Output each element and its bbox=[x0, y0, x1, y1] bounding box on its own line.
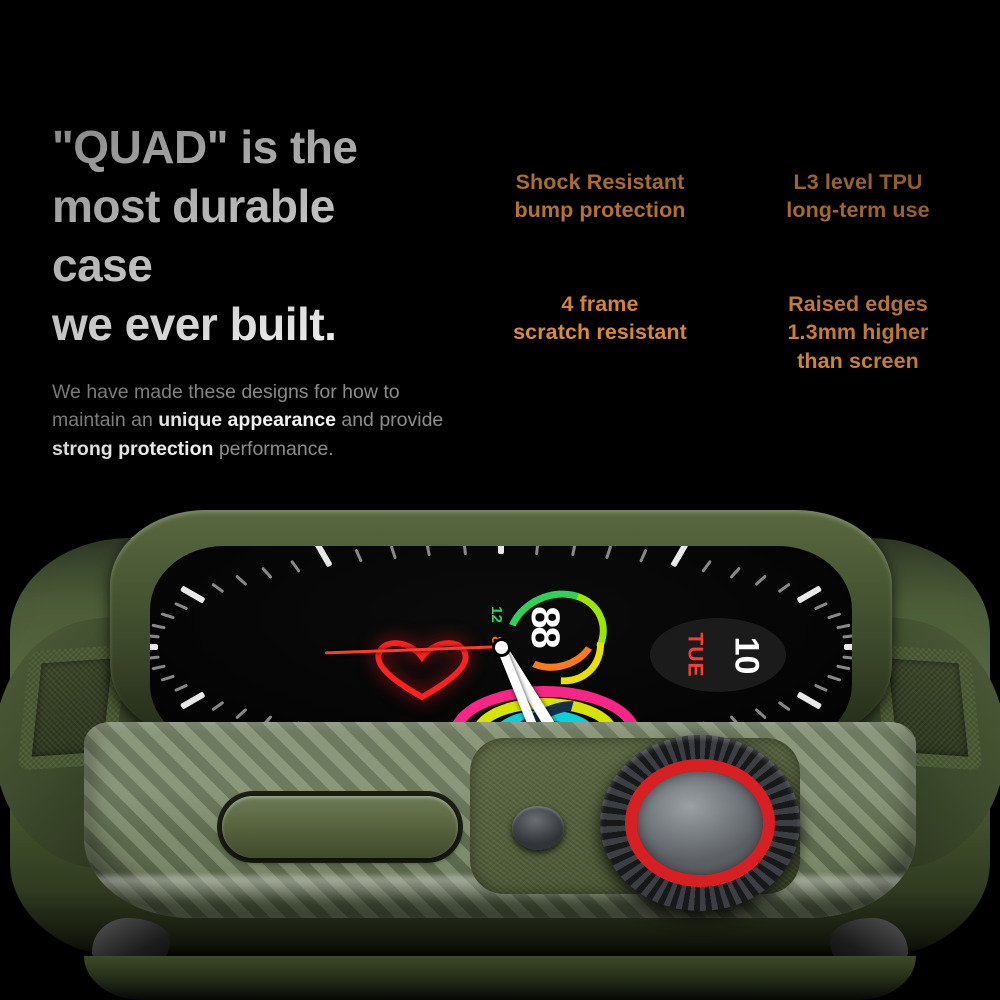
crown-hub bbox=[637, 771, 763, 875]
round-side-button bbox=[512, 806, 564, 850]
headline-line-2: most durable bbox=[52, 177, 472, 236]
feature-list: Shock Resistant bump protection L3 level… bbox=[470, 160, 980, 390]
side-button bbox=[222, 796, 458, 858]
subcopy-part-3: performance. bbox=[213, 438, 333, 460]
feature-item-4-frame: 4 frame scratch resistant bbox=[480, 290, 720, 347]
second-hand bbox=[325, 646, 501, 655]
feature-line-2: bump protection bbox=[480, 196, 720, 224]
headline-line-1: "QUAD" is the bbox=[52, 118, 472, 177]
page-title: "QUAD" is the most durable case we ever … bbox=[52, 118, 472, 354]
feature-item-raised-edges: Raised edges 1.3mm higher than screen bbox=[738, 290, 978, 375]
feature-line-2: scratch resistant bbox=[480, 318, 720, 346]
clock-hands bbox=[150, 546, 852, 748]
digital-crown bbox=[600, 735, 800, 911]
case-bottom-edge bbox=[84, 956, 916, 1000]
feature-line-2: long-term use bbox=[738, 196, 978, 224]
raised-bezel: 88 12 88 TUE 10 bbox=[110, 510, 892, 740]
feature-line-2: 1.3mm higher bbox=[738, 318, 978, 346]
crown-red-ring bbox=[625, 759, 775, 887]
subcopy-bold-strong-protection: strong protection bbox=[52, 438, 213, 460]
watch-face: 88 12 88 TUE 10 bbox=[150, 546, 852, 748]
headline-line-3: case bbox=[52, 236, 472, 295]
subheading-paragraph: We have made these designs for how to ma… bbox=[52, 378, 452, 463]
headline-line-4: we ever built. bbox=[52, 295, 472, 354]
feature-item-shock-resistant: Shock Resistant bump protection bbox=[480, 168, 720, 225]
feature-line-1: 4 frame bbox=[480, 290, 720, 318]
subcopy-bold-unique-appearance: unique appearance bbox=[158, 409, 336, 431]
subcopy-part-2: and provide bbox=[336, 409, 443, 431]
feature-line-1: Raised edges bbox=[738, 290, 978, 318]
feature-line-1: L3 level TPU bbox=[738, 168, 978, 196]
watch-screen: 88 12 88 TUE 10 bbox=[150, 546, 852, 748]
feature-item-l3-tpu: L3 level TPU long-term use bbox=[738, 168, 978, 225]
feature-line-3: than screen bbox=[738, 347, 978, 375]
product-photo: 88 12 88 TUE 10 bbox=[0, 500, 1000, 1000]
feature-line-1: Shock Resistant bbox=[480, 168, 720, 196]
hands-pivot bbox=[495, 641, 508, 654]
